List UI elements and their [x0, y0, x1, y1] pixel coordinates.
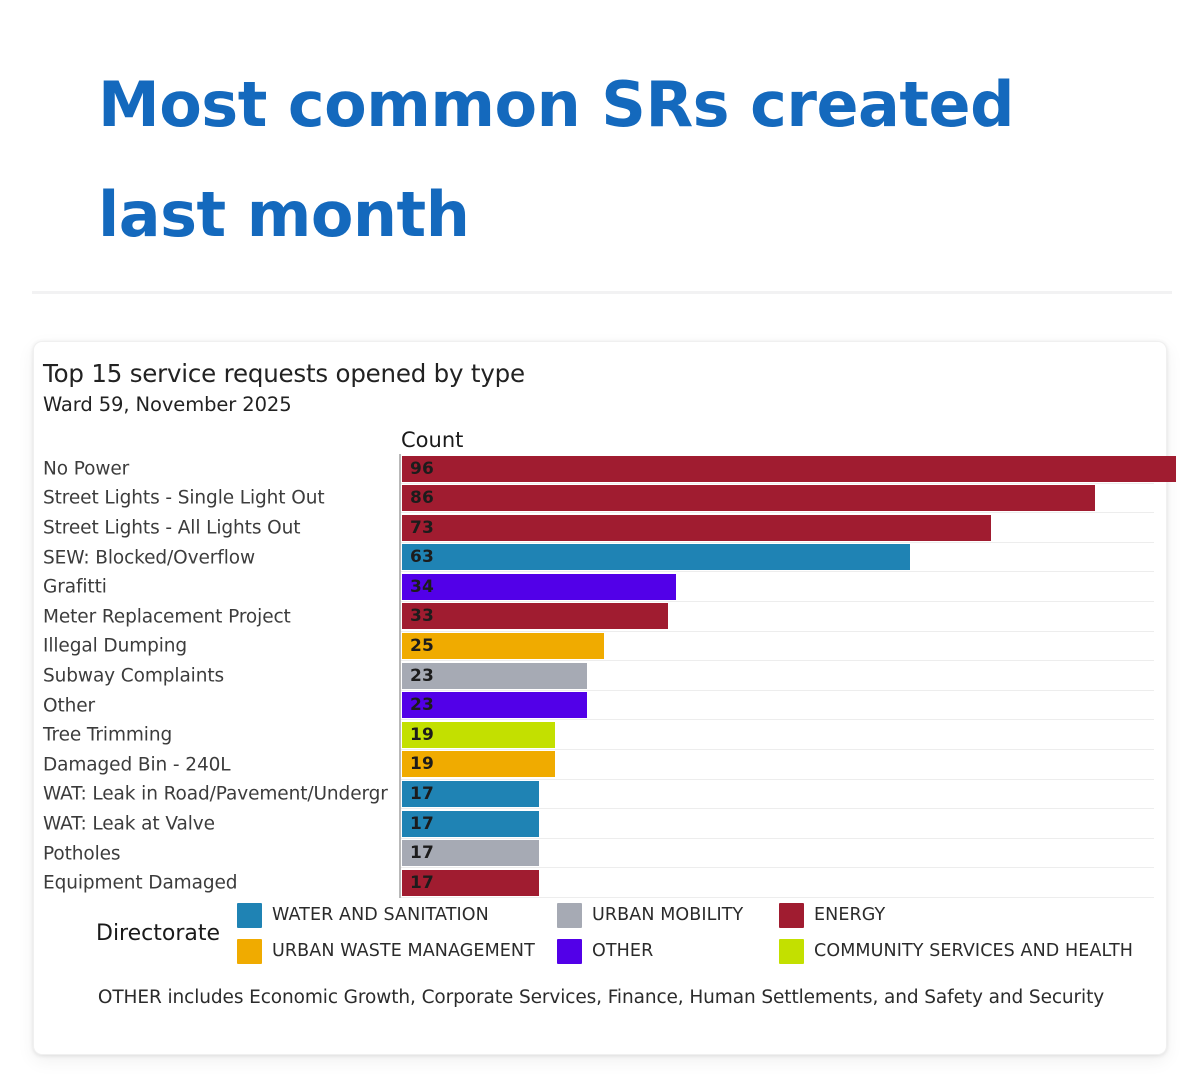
legend-swatch-icon — [237, 903, 262, 928]
chart-row: Meter Replacement Project33 — [34, 602, 1168, 632]
legend-label: ENERGY — [814, 905, 885, 925]
bar[interactable]: 33 — [402, 603, 668, 629]
value-axis-line — [399, 691, 401, 721]
chart-row: Street Lights - Single Light Out86 — [34, 484, 1168, 514]
chart-row: WAT: Leak in Road/Pavement/Undergr17 — [34, 780, 1168, 810]
bar-value-label: 19 — [402, 725, 434, 745]
bar-chart-plot: No Power96Street Lights - Single Light O… — [34, 454, 1168, 784]
legend-item[interactable]: WATER AND SANITATION — [237, 903, 557, 928]
bar-value-label: 17 — [402, 784, 434, 804]
category-label: Street Lights - Single Light Out — [43, 488, 324, 509]
category-label: No Power — [43, 458, 129, 479]
bar-value-label: 33 — [402, 606, 434, 626]
category-label: Damaged Bin - 240L — [43, 754, 231, 775]
value-axis-line — [399, 720, 401, 750]
legend-label: URBAN MOBILITY — [592, 905, 743, 925]
value-axis-line — [399, 839, 401, 869]
legend-swatch-icon — [237, 939, 262, 964]
category-label: Potholes — [43, 843, 120, 864]
bar[interactable]: 34 — [402, 574, 676, 600]
chart-row: Damaged Bin - 240L19 — [34, 750, 1168, 780]
bar[interactable]: 23 — [402, 692, 587, 718]
category-label: WAT: Leak in Road/Pavement/Undergr — [43, 784, 388, 805]
chart-row: Potholes17 — [34, 839, 1168, 869]
bar-value-label: 86 — [402, 488, 434, 508]
legend-label: OTHER — [592, 941, 653, 961]
value-axis-line — [399, 750, 401, 780]
legend-swatch-icon — [779, 939, 804, 964]
value-axis-label: Count — [401, 428, 463, 452]
chart-row: Other23 — [34, 691, 1168, 721]
value-axis-line — [399, 602, 401, 632]
legend-item[interactable]: OTHER — [557, 939, 779, 964]
chart-row: SEW: Blocked/Overflow63 — [34, 543, 1168, 573]
chart-row: Grafitti34 — [34, 572, 1168, 602]
value-axis-line — [399, 484, 401, 514]
category-label: Meter Replacement Project — [43, 606, 291, 627]
bar-value-label: 19 — [402, 754, 434, 774]
bar[interactable]: 63 — [402, 544, 910, 570]
chart-row: Subway Complaints23 — [34, 661, 1168, 691]
chart-card: Top 15 service requests opened by type W… — [33, 341, 1167, 1055]
value-axis-line — [399, 661, 401, 691]
value-axis-line — [399, 454, 401, 484]
bar-value-label: 23 — [402, 695, 434, 715]
value-axis-line — [399, 543, 401, 573]
page-title: Most common SRs created last month — [98, 50, 1148, 271]
bar[interactable]: 73 — [402, 515, 991, 541]
chart-row: No Power96 — [34, 454, 1168, 484]
value-axis-line — [399, 809, 401, 839]
legend-footnote: OTHER includes Economic Growth, Corporat… — [34, 987, 1168, 1008]
bar-value-label: 25 — [402, 636, 434, 656]
bar-value-label: 34 — [402, 577, 434, 597]
category-label: Subway Complaints — [43, 665, 224, 686]
bar[interactable]: 17 — [402, 781, 539, 807]
category-label: Equipment Damaged — [43, 873, 237, 894]
header-divider — [32, 291, 1172, 294]
bar-value-label: 63 — [402, 547, 434, 567]
legend-item[interactable]: URBAN MOBILITY — [557, 903, 779, 928]
legend-items: WATER AND SANITATIONURBAN MOBILITYENERGY… — [237, 897, 1157, 969]
legend-item[interactable]: COMMUNITY SERVICES AND HEALTH — [779, 939, 1157, 964]
value-axis-line — [399, 868, 401, 898]
bar-value-label: 17 — [402, 873, 434, 893]
legend-label: URBAN WASTE MANAGEMENT — [272, 941, 535, 961]
bar-value-label: 23 — [402, 666, 434, 686]
bar[interactable]: 17 — [402, 840, 539, 866]
slide-page: Most common SRs created last month Top 1… — [0, 0, 1200, 1085]
chart-row: Street Lights - All Lights Out73 — [34, 513, 1168, 543]
value-axis-line — [399, 632, 401, 662]
bar-value-label: 17 — [402, 814, 434, 834]
category-label: SEW: Blocked/Overflow — [43, 547, 255, 568]
chart-subtitle: Ward 59, November 2025 — [43, 393, 292, 416]
chart-row: WAT: Leak at Valve17 — [34, 809, 1168, 839]
chart-legend: Directorate WATER AND SANITATIONURBAN MO… — [34, 897, 1168, 975]
category-label: Tree Trimming — [43, 725, 172, 746]
bar[interactable]: 19 — [402, 751, 555, 777]
bar[interactable]: 23 — [402, 663, 587, 689]
bar-value-label: 96 — [402, 459, 434, 479]
bar[interactable]: 19 — [402, 722, 555, 748]
legend-swatch-icon — [557, 939, 582, 964]
bar-value-label: 73 — [402, 518, 434, 538]
legend-label: WATER AND SANITATION — [272, 905, 489, 925]
value-axis-line — [399, 572, 401, 602]
legend-label: COMMUNITY SERVICES AND HEALTH — [814, 941, 1133, 961]
chart-title: Top 15 service requests opened by type — [43, 359, 525, 388]
legend-item[interactable]: ENERGY — [779, 903, 1157, 928]
bar-value-label: 17 — [402, 843, 434, 863]
bar[interactable]: 86 — [402, 485, 1095, 511]
legend-swatch-icon — [557, 903, 582, 928]
bar[interactable]: 96 — [402, 456, 1176, 482]
legend-title: Directorate — [96, 921, 220, 946]
bar[interactable]: 25 — [402, 633, 604, 659]
chart-row: Equipment Damaged17 — [34, 868, 1168, 898]
legend-item[interactable]: URBAN WASTE MANAGEMENT — [237, 939, 557, 964]
bar[interactable]: 17 — [402, 870, 539, 896]
category-label: Grafitti — [43, 577, 107, 598]
category-label: Illegal Dumping — [43, 636, 187, 657]
slide-header: Most common SRs created last month — [98, 50, 1148, 271]
legend-swatch-icon — [779, 903, 804, 928]
category-label: Other — [43, 695, 95, 716]
value-axis-line — [399, 513, 401, 543]
chart-row: Illegal Dumping25 — [34, 632, 1168, 662]
category-label: Street Lights - All Lights Out — [43, 517, 300, 538]
category-label: WAT: Leak at Valve — [43, 813, 215, 834]
chart-row: Tree Trimming19 — [34, 720, 1168, 750]
value-axis-line — [399, 780, 401, 810]
bar[interactable]: 17 — [402, 811, 539, 837]
